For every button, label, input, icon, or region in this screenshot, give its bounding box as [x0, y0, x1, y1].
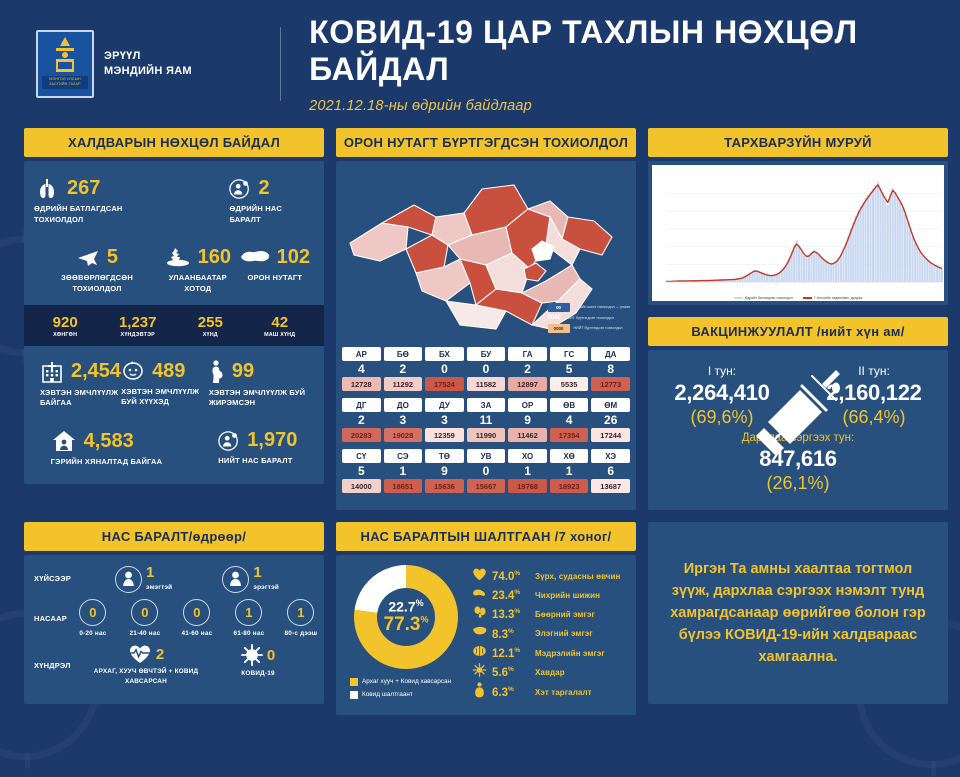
region-code: ХО: [508, 449, 547, 463]
region-total-cases: 17244: [591, 428, 630, 442]
brain-icon: [472, 644, 487, 663]
age-count-circle: 0: [131, 599, 158, 626]
region-new-cases: 3: [425, 412, 464, 428]
hospitalized-value: 2,454: [71, 360, 121, 383]
person-death-icon: [218, 430, 240, 452]
region-code: ӨВ: [550, 398, 589, 412]
page-title: КОВИД-19 ЦАР ТАХЛЫН НӨХЦӨЛ БАЙДАЛ: [309, 14, 960, 88]
pregnant-value: 99: [232, 360, 254, 383]
cause-label: Чихрийн шижин: [535, 591, 600, 600]
curve-legend: Өдрийн батлагдсан тохиолдол 7 хоногийн х…: [652, 296, 944, 300]
deaths-male: 1 эрэгтэй: [222, 565, 279, 593]
region-total-cases: 11292: [384, 377, 423, 391]
region-total-cases: 18651: [384, 479, 423, 493]
map-panel-title: ОРОН НУТАГТ БҮРТГЭГДСЭН ТОХИОЛДОЛ: [336, 128, 636, 157]
home-care-value: 4,583: [84, 430, 134, 453]
region-block: ДГДОДУЗАОРӨВӨМ23311942620283190281235911…: [342, 398, 630, 442]
daily-confirmed-label: ӨДРИЙН БАТЛАГДСАН ТОХИОЛДОЛ: [34, 204, 171, 226]
stat-daily-confirmed: 267 ӨДРИЙН БАТЛАГДСАН ТОХИОЛДОЛ: [34, 177, 171, 226]
cause-percent: 23.4%: [492, 589, 530, 602]
curve-legend-item: Өдрийн батлагдсан тохиолдол: [734, 296, 793, 300]
region-code: ДУ: [425, 398, 464, 412]
ulaanbaatar-label: УЛААНБААТАР ХОТОД: [156, 273, 240, 295]
region-code: БХ: [425, 347, 464, 361]
severity-item: 1,237 ХҮНДЭВТЭР: [119, 314, 157, 338]
lungs-icon: [34, 178, 60, 200]
cause-percent: 74.0%: [492, 570, 530, 583]
person-death-icon: [229, 178, 251, 200]
region-total-cases: 15667: [467, 479, 506, 493]
region-new-cases: 3: [384, 412, 423, 428]
region-new-cases: 0: [425, 361, 464, 377]
obesity-icon: [472, 682, 487, 703]
pregnant-icon: [209, 360, 225, 384]
death-causes-panel: НАС БАРАЛТЫН ШАЛТГААН /7 хоног/ 22.7% 77…: [336, 522, 636, 715]
region-new-cases: 1: [384, 463, 423, 479]
curve-legend-item: 7 хоногийн хөдөлгөөнт дундаж: [803, 296, 862, 300]
region-code: ГС: [550, 347, 589, 361]
region-total-cases: 11462: [508, 428, 547, 442]
death-causes-title: НАС БАРАЛТЫН ШАЛТГААН /7 хоног/: [336, 522, 636, 551]
region-code: ДА: [591, 347, 630, 361]
region-new-cases: 1: [550, 463, 589, 479]
ministry-logo-block: МОНГОЛ УЛСЫН ЗАСГИЙН ГАЗАР ЭРҮҮЛ МЭНДИЙН…: [36, 30, 280, 98]
imported-label: ЗӨӨВӨРЛӨГДСӨН ТОХИОЛДОЛ: [38, 273, 156, 295]
legend-count-placeholder: 0000: [548, 315, 561, 321]
region-code: СҮ: [342, 449, 381, 463]
region-new-cases: 26: [591, 412, 630, 428]
region-total-cases: 5535: [550, 377, 589, 391]
death-cause-item: 13.3%Бөөрний эмгэг: [472, 605, 628, 624]
map-legend: 00 Өдрийн шинэ тохиолдол — улаан 0000 НИ…: [548, 303, 630, 333]
total-deaths-value: 1,970: [247, 429, 297, 452]
cause-label: Бөөрний эмгэг: [535, 610, 595, 619]
deaths-covid-only: 0 КОВИД-19: [232, 644, 284, 679]
death-cause-item: 74.0%Зүрх, судасны өвчин: [472, 567, 628, 586]
death-age-item: 021-40 нас: [119, 599, 171, 639]
vaccination-title: ВАКЦИНЖУУЛАЛТ /нийт хүн ам/: [648, 317, 948, 346]
death-age-item: 180-с дээш: [275, 599, 327, 639]
death-age-item: 161-80 нас: [223, 599, 275, 639]
region-code: ХЭ: [591, 449, 630, 463]
stat-children: 489 ХЭВТЭН ЭМЧЛҮҮЛЖ БУЙ ХҮҮХЭД: [121, 360, 209, 410]
death-cause-item: 12.1%Мэдрэлийн эмгэг: [472, 644, 628, 663]
region-new-cases: 1: [508, 463, 547, 479]
stat-ulaanbaatar: 160 УЛААНБААТАР ХОТОД: [156, 246, 240, 295]
death-cause-item: 8.3%Элэгний эмгэг: [472, 624, 628, 643]
region-code: ГА: [508, 347, 547, 361]
region-total-cases: 17354: [550, 428, 589, 442]
daily-deaths-label: ӨДРИЙН НАС БАРАЛТ: [229, 204, 314, 226]
region-total-cases: 13687: [591, 479, 630, 493]
cause-percent: 13.3%: [492, 608, 530, 621]
stat-pregnant: 99 ХЭВТЭН ЭМЧЛҮҮЛЖ БУЙ ЖИРЭМСЭН: [209, 360, 308, 410]
curve-svg: [658, 170, 946, 292]
legend-count-note: НИЙТ бүртгэгдсэн тохиолдол: [565, 316, 614, 321]
female-icon: [115, 566, 142, 593]
region-block: СҮСЭТӨУВХОХӨХЭ51901161400018651156361566…: [342, 449, 630, 493]
region-code: ӨМ: [591, 398, 630, 412]
provinces-label: ОРОН НУТАГТ: [247, 273, 302, 284]
region-new-cases: 9: [425, 463, 464, 479]
airplane-icon: [76, 247, 100, 267]
baby-icon: [121, 360, 145, 382]
ministry-name: ЭРҮҮЛ МЭНДИЙН ЯАМ: [104, 49, 192, 79]
regions-table: АРБӨБХБУГАГСДА42002581272811292175241158…: [336, 339, 636, 510]
pregnant-label: ХЭВТЭН ЭМЧЛҮҮЛЖ БУЙ ЖИРЭМСЭН: [209, 388, 308, 410]
death-age-item: 041-60 нас: [171, 599, 223, 639]
map-icon: [240, 248, 270, 266]
region-block: АРБӨБХБУГАГСДА42002581272811292175241158…: [342, 347, 630, 391]
cause-label: Зүрх, судасны өвчин: [535, 572, 621, 581]
syringe-icon: [750, 366, 846, 462]
male-icon: [222, 566, 249, 593]
donut-legend: Архаг хууч + Ковид хавсарсан Ковид шалтг…: [346, 677, 451, 704]
region-total-cases: 12359: [425, 428, 464, 442]
region-code: ОР: [508, 398, 547, 412]
page-header: МОНГОЛ УЛСЫН ЗАСГИЙН ГАЗАР ЭРҮҮЛ МЭНДИЙН…: [0, 0, 960, 128]
donut-legend-item: Архаг хууч + Ковид хавсарсан: [350, 677, 451, 686]
deaths-by-sex-row: ХҮЙСЭЭР 1 эмэгтэй: [34, 565, 314, 593]
severity-item: 255 ХҮНД: [198, 314, 223, 338]
region-new-cases: 4: [550, 412, 589, 428]
age-count-circle: 0: [183, 599, 210, 626]
region-code: ДГ: [342, 398, 381, 412]
stat-daily-deaths: 2 ӨДРИЙН НАС БАРАЛТ: [229, 177, 314, 226]
total-deaths-label: НИЙТ НАС БАРАЛТ: [218, 456, 292, 467]
region-code: ДО: [384, 398, 423, 412]
region-new-cases: 4: [342, 361, 381, 377]
region-code: ТӨ: [425, 449, 464, 463]
region-new-cases: 6: [591, 463, 630, 479]
emblem-caption: МОНГОЛ УЛСЫН ЗАСГИЙН ГАЗАР: [42, 76, 88, 89]
cause-label: Элэгний эмгэг: [535, 629, 593, 638]
region-new-cases: 9: [508, 412, 547, 428]
daily-deaths-title: НАС БАРАЛТ/өдрөөр/: [24, 522, 324, 551]
report-date: 2021.12.18-ны өдрийн байдлаар: [309, 98, 960, 114]
deaths-comorbid: 2 АРХАГ, ХУУЧ ӨВЧТЭЙ + КОВИД ХАВСАРСАН: [120, 644, 172, 686]
stat-total-deaths: 1,970 НИЙТ НАС БАРАЛТ: [218, 429, 297, 468]
age-count-circle: 1: [287, 599, 314, 626]
government-emblem-icon: МОНГОЛ УЛСЫН ЗАСГИЙН ГАЗАР: [36, 30, 94, 98]
infection-panel-title: ХАЛДВАРЫН НӨХЦӨЛ БАЙДАЛ: [24, 128, 324, 157]
age-count-circle: 0: [79, 599, 106, 626]
regional-cases-panel: ОРОН НУТАГТ БҮРТГЭГДСЭН ТОХИОЛДОЛ: [336, 128, 636, 510]
cancer-cell-icon: [472, 663, 487, 682]
region-total-cases: 20283: [342, 428, 381, 442]
dashboard-row-1: ХАЛДВАРЫН НӨХЦӨЛ БАЙДАЛ 267 ӨДРИЙН: [0, 128, 960, 510]
cause-label: Хэт таргалалт: [535, 688, 592, 697]
region-new-cases: 2: [384, 361, 423, 377]
mongolia-choropleth-map: 00 Өдрийн шинэ тохиолдол — улаан 0000 НИ…: [336, 161, 636, 339]
region-total-cases: 12728: [342, 377, 381, 391]
region-code: ЗА: [467, 398, 506, 412]
deaths-by-severity-row: ХҮНДРЭЛ 2 АРХАГ, ХУУЧ ӨВЧТЭЙ + КОВИД ХАВ…: [34, 644, 314, 686]
region-new-cases: 2: [342, 412, 381, 428]
death-age-item: 00-20 нас: [67, 599, 119, 639]
cause-label: Хавдар: [535, 668, 565, 677]
region-total-cases: 12897: [508, 377, 547, 391]
legend-total-text: НИЙТ бүртгэгдсэн тохиолдол: [574, 326, 623, 331]
region-code: БУ: [467, 347, 506, 361]
stat-hospitalized: 2,454 ХЭВТЭН ЭМЧЛҮҮЛЖ БАЙГАА: [40, 360, 121, 410]
epi-curve-title: ТАРХВАРЗҮЙН МУРУЙ: [648, 128, 948, 157]
region-code: СЭ: [384, 449, 423, 463]
donut-legend-item: Ковид шалтгаант: [350, 690, 451, 699]
death-causes-donut-chart: 22.7% 77.3%: [354, 565, 458, 669]
region-total-cases: 19028: [384, 428, 423, 442]
region-code: БӨ: [384, 347, 423, 361]
daily-confirmed-value: 267: [67, 177, 100, 200]
header-divider: [280, 27, 281, 101]
region-total-cases: 14000: [342, 479, 381, 493]
cause-percent: 8.3%: [492, 628, 530, 641]
region-total-cases: 11582: [467, 377, 506, 391]
kidney-icon: [472, 605, 487, 624]
stat-home-care: 4,583 ГЭРИЙН ХЯНАЛТАД БАЙГАА: [51, 429, 163, 468]
pancreas-icon: [472, 586, 487, 605]
vaccination-stats: I тун: 2,264,410 (69,6%) II тун: 2,160,1…: [648, 350, 948, 510]
legend-swatch-new: 00: [548, 303, 570, 312]
region-new-cases: 0: [467, 463, 506, 479]
region-code: АР: [342, 347, 381, 361]
cause-percent: 12.1%: [492, 647, 530, 660]
region-total-cases: 15636: [425, 479, 464, 493]
dashboard-row-2: НАС БАРАЛТ/өдрөөр/ ХҮЙСЭЭР 1 эмэгтэй: [0, 522, 960, 715]
cause-label: Мэдрэлийн эмгэг: [535, 649, 605, 658]
region-new-cases: 5: [550, 361, 589, 377]
virus-icon: [241, 644, 263, 666]
legend-swatch-total: 0000: [548, 324, 570, 333]
monument-icon: [165, 246, 191, 268]
severity-item: 42 МАШ ХҮНД: [264, 314, 295, 338]
severity-strip: 920 ХӨНГӨН 1,237 ХҮНДЭВТЭР 255 ХҮНД 42 М…: [24, 305, 324, 346]
home-care-label: ГЭРИЙН ХЯНАЛТАД БАЙГАА: [51, 457, 163, 468]
death-cause-item: 23.4%Чихрийн шижин: [472, 586, 628, 605]
home-person-icon: [51, 429, 77, 453]
death-cause-item: 5.6%Хавдар: [472, 663, 628, 682]
public-health-message: Иргэн Та амны хаалтаа тогтмол зүүж, дарх…: [648, 522, 948, 704]
children-value: 489: [152, 360, 185, 383]
region-total-cases: 18923: [550, 479, 589, 493]
deaths-female: 1 эмэгтэй: [115, 565, 172, 593]
region-new-cases: 8: [591, 361, 630, 377]
message-text: Иргэн Та амны хаалтаа тогтмол зүүж, дарх…: [664, 558, 932, 668]
region-new-cases: 2: [508, 361, 547, 377]
heartbeat-icon: [128, 644, 152, 664]
death-cause-item: 6.3%Хэт таргалалт: [472, 682, 628, 703]
legend-new-text: Өдрийн шинэ тохиолдол — улаан: [574, 305, 630, 310]
region-total-cases: 17524: [425, 377, 464, 391]
stat-provinces: 102 ОРОН НУТАГТ: [240, 246, 310, 295]
region-code: УВ: [467, 449, 506, 463]
hospital-icon: [40, 360, 64, 384]
soyombo-icon: [55, 37, 75, 73]
provinces-value: 102: [277, 246, 310, 269]
region-total-cases: 19768: [508, 479, 547, 493]
imported-value: 5: [107, 246, 118, 269]
heart-icon: [472, 567, 487, 586]
infection-status-panel: ХАЛДВАРЫН НӨХЦӨЛ БАЙДАЛ 267 ӨДРИЙН: [24, 128, 324, 510]
deaths-by-age-row: НАСААР 00-20 нас021-40 нас041-60 нас161-…: [34, 599, 314, 639]
severity-item: 920 ХӨНГӨН: [53, 314, 78, 338]
hospitalized-label: ХЭВТЭН ЭМЧЛҮҮЛЖ БАЙГАА: [40, 388, 121, 410]
region-code: ХӨ: [550, 449, 589, 463]
liver-icon: [472, 624, 487, 643]
daily-deaths-panel: НАС БАРАЛТ/өдрөөр/ ХҮЙСЭЭР 1 эмэгтэй: [24, 522, 324, 715]
cause-percent: 6.3%: [492, 686, 530, 699]
region-new-cases: 5: [342, 463, 381, 479]
region-new-cases: 11: [467, 412, 506, 428]
ulaanbaatar-value: 160: [198, 246, 231, 269]
cause-percent: 5.6%: [492, 666, 530, 679]
region-total-cases: 12773: [591, 377, 630, 391]
daily-deaths-value: 2: [258, 177, 269, 200]
age-count-circle: 1: [235, 599, 262, 626]
epidemic-curve-chart: Өдрийн батлагдсан тохиолдол 7 хоногийн х…: [652, 165, 944, 301]
region-new-cases: 0: [467, 361, 506, 377]
region-total-cases: 11990: [467, 428, 506, 442]
right-column-panel: ТАРХВАРЗҮЙН МУРУЙ Өдрийн батлагдсан тохи…: [648, 128, 948, 510]
children-label: ХЭВТЭН ЭМЧЛҮҮЛЖ БУЙ ХҮҮХЭД: [121, 387, 209, 409]
stat-imported: 5 ЗӨӨВӨРЛӨГДСӨН ТОХИОЛДОЛ: [38, 246, 156, 295]
